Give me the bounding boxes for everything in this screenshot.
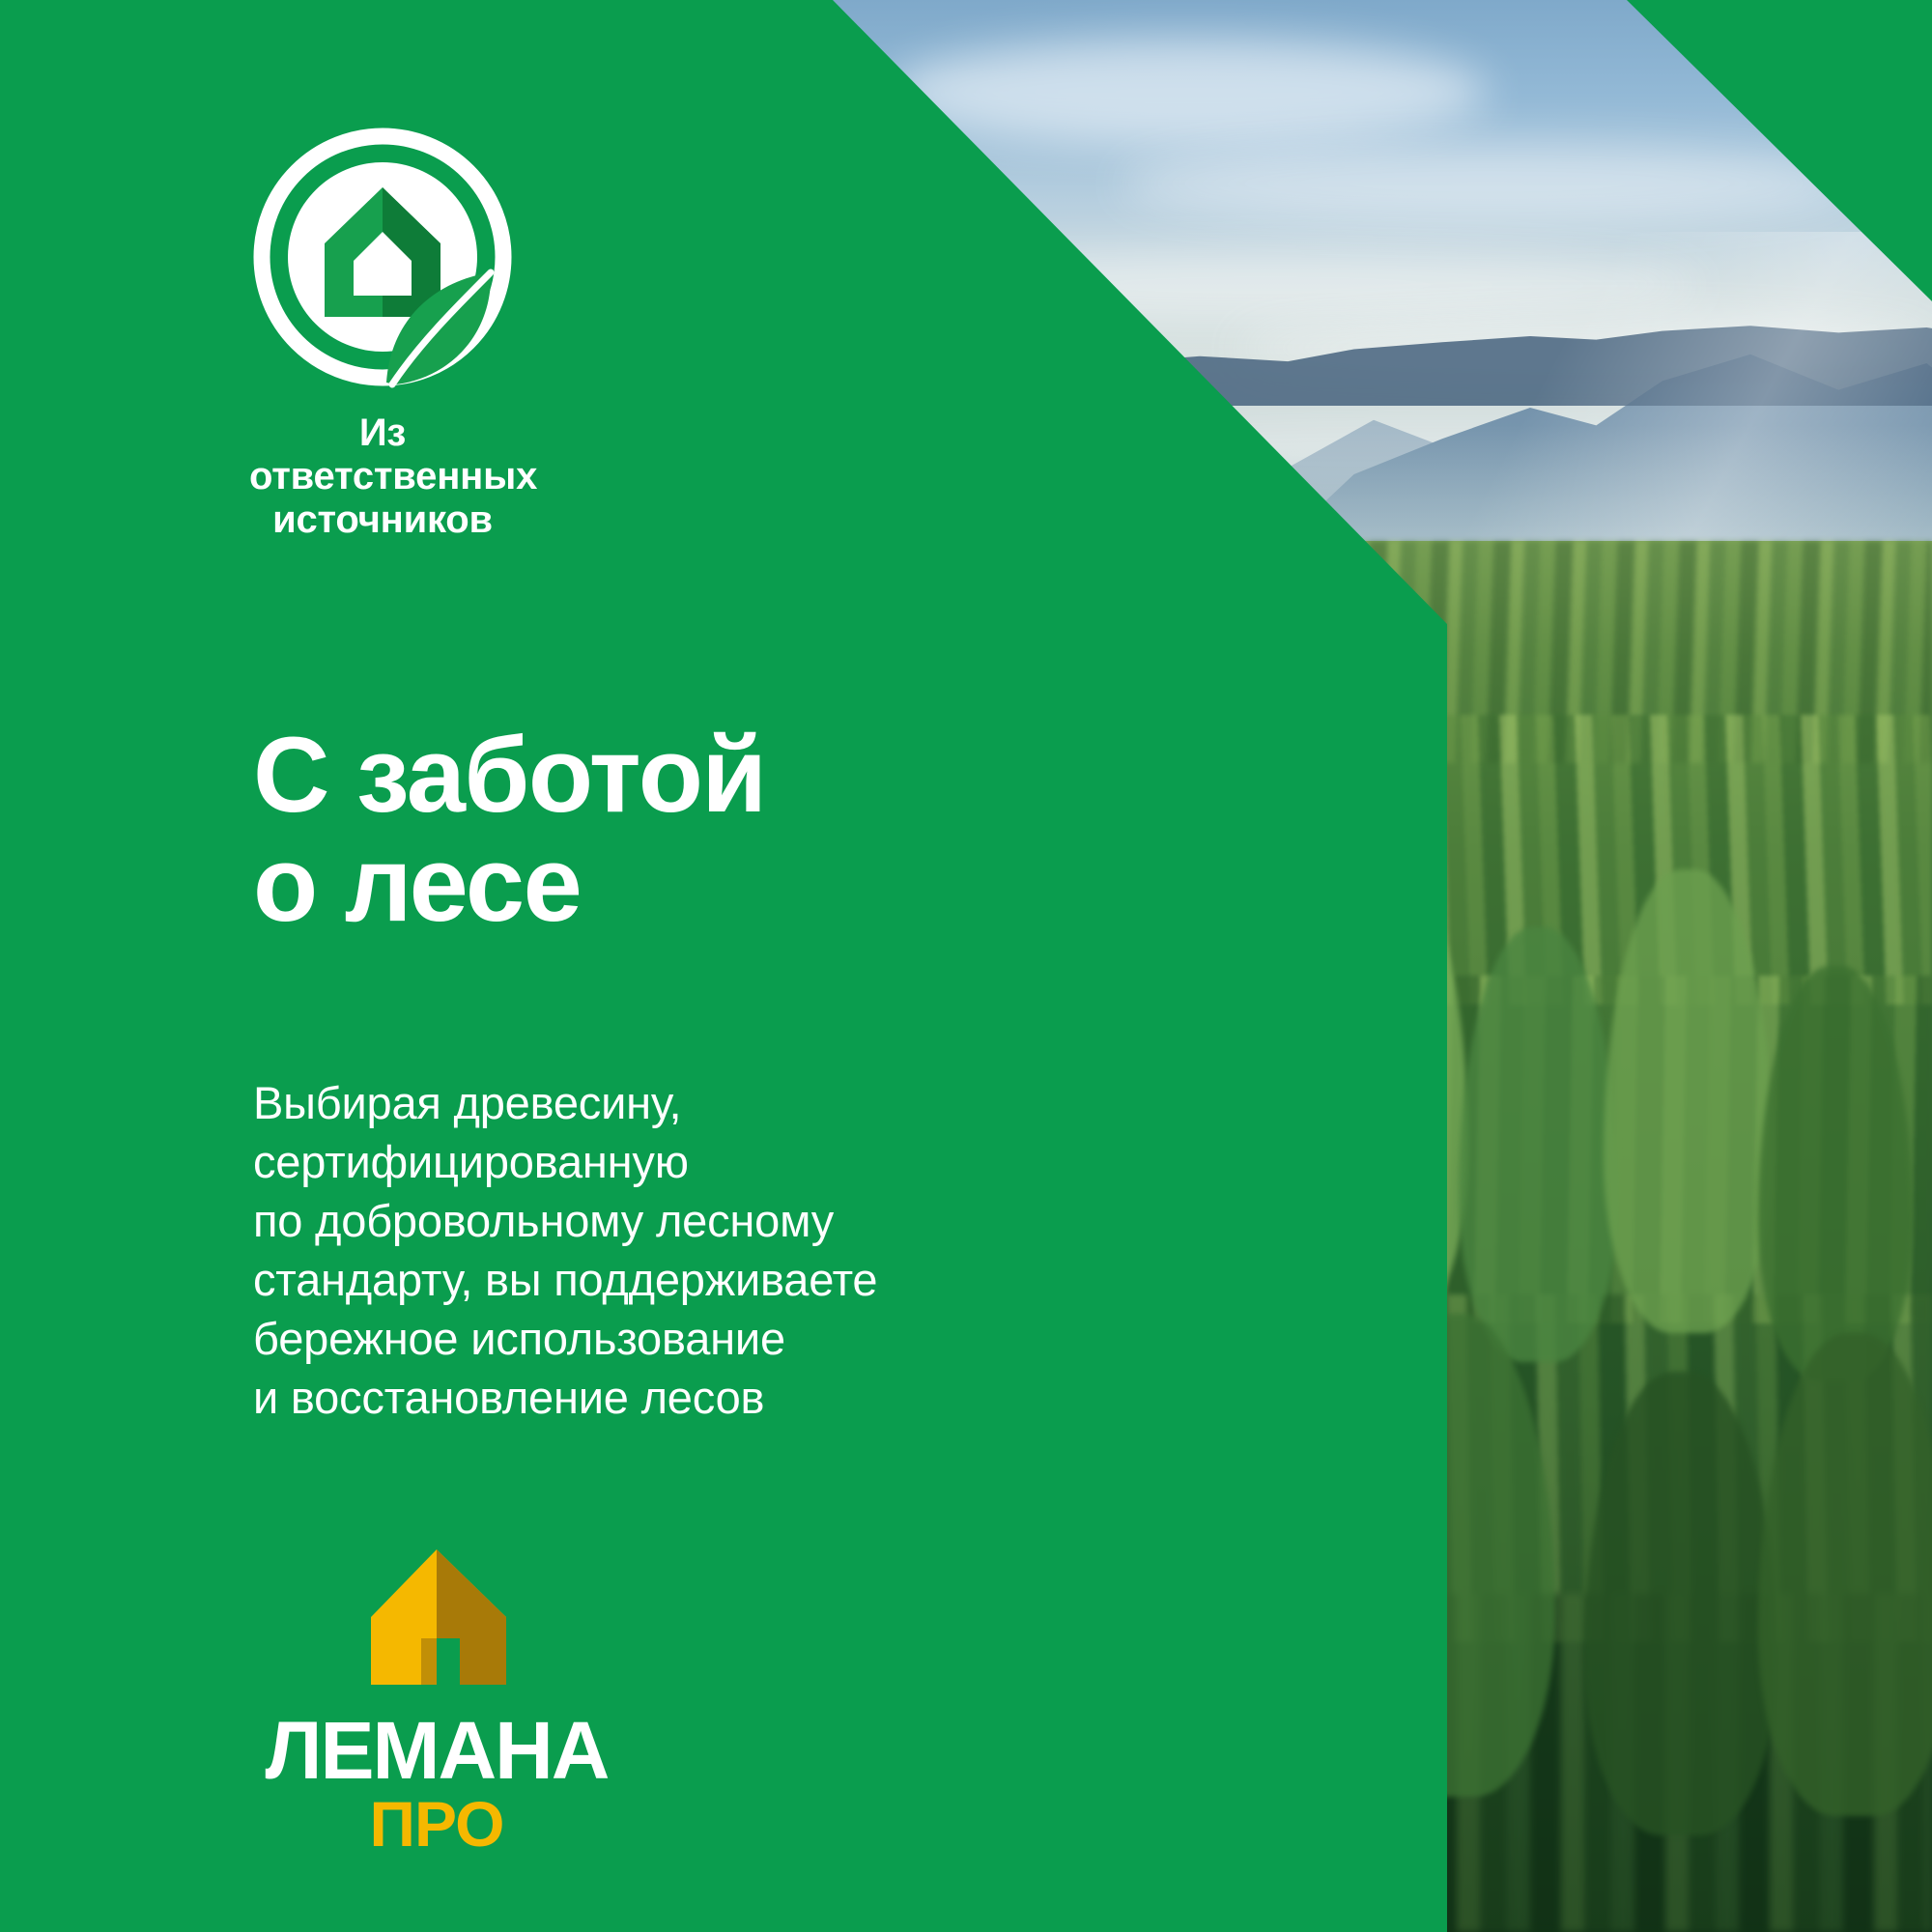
brand-subname: ПРО — [253, 1792, 620, 1857]
brand-logo: ЛЕМАНА ПРО — [253, 1546, 620, 1858]
page-title: С заботой о лесе — [253, 721, 766, 940]
content-layer: Из ответственных источников С заботой о … — [0, 0, 1447, 1932]
brand-name: ЛЕМАНА — [253, 1714, 620, 1788]
eco-badge-caption: Из ответственных источников — [249, 412, 516, 541]
house-roof-logo-icon — [363, 1546, 510, 1689]
poster-canvas: Из ответственных источников С заботой о … — [0, 0, 1932, 1932]
eco-badge: Из ответственных источников — [249, 124, 516, 541]
house-leaf-circle-icon — [249, 124, 516, 390]
body-copy: Выбирая древесину, сертифицированную по … — [253, 1073, 877, 1428]
